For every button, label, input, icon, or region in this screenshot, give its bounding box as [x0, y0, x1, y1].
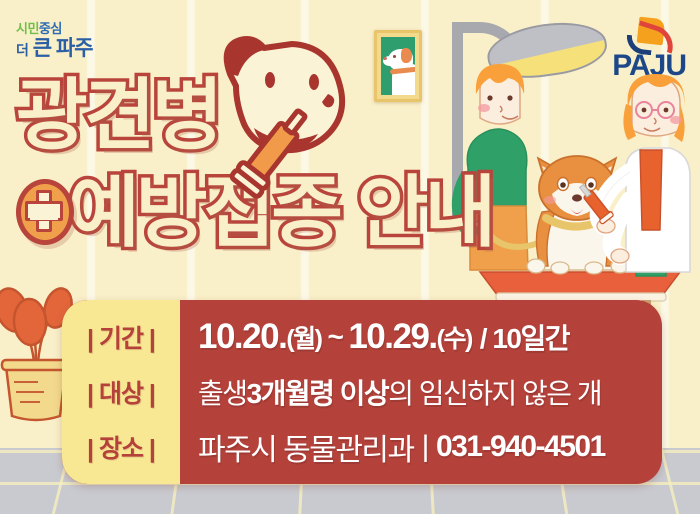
info-label-place: | 장소 |	[62, 419, 180, 474]
rabies-vaccination-poster: 시민중심 더 큰 파주 PAJU 광견병 예방접종 안내 |	[0, 0, 700, 514]
target-pre: 출생	[198, 372, 247, 412]
date-tilde: ~	[327, 321, 342, 353]
place-name: 파주시 동물관리과	[198, 425, 414, 469]
info-value-target: 출생 3개월령 이상의 임신하지 않은 개	[198, 365, 662, 420]
dog-head-lineart	[196, 24, 366, 214]
info-panel-labels: | 기간 | | 대상 | | 장소 |	[62, 300, 180, 484]
day-start: (월)	[286, 319, 321, 355]
date-duration: / 10일간	[480, 317, 569, 357]
info-label-period: | 기간 |	[62, 310, 180, 365]
headline-text-1: 광견병	[16, 78, 219, 153]
info-panel: | 기간 | | 대상 | | 장소 | 10.20.(월) ~ 10.29.(…	[62, 300, 662, 484]
place-separator: |	[422, 430, 428, 464]
info-value-period: 10.20.(월) ~ 10.29.(수) / 10일간	[198, 310, 662, 365]
info-label-target: | 대상 |	[62, 365, 180, 420]
city-logo-tagline-1: 시민	[16, 21, 39, 36]
date-start: 10.20.	[198, 317, 286, 357]
city-logo-name: 큰 파주	[33, 37, 93, 60]
target-post: 의 임신하지 않은 개	[388, 372, 601, 412]
info-panel-values: 10.20.(월) ~ 10.29.(수) / 10일간 출생 3개월령 이상의…	[180, 300, 662, 484]
target-strong: 3개월령 이상	[247, 372, 389, 412]
city-logo: 시민중심 더 큰 파주	[16, 22, 146, 62]
date-end: 10.29.	[348, 317, 436, 357]
city-logo-prefix: 더	[16, 42, 28, 58]
day-end: (수)	[437, 319, 472, 355]
info-value-place: 파주시 동물관리과 | 031-940-4501	[198, 419, 662, 474]
city-logo-tagline-2: 중심	[39, 21, 62, 36]
medical-cross-icon	[16, 179, 74, 245]
place-phone: 031-940-4501	[436, 430, 605, 464]
